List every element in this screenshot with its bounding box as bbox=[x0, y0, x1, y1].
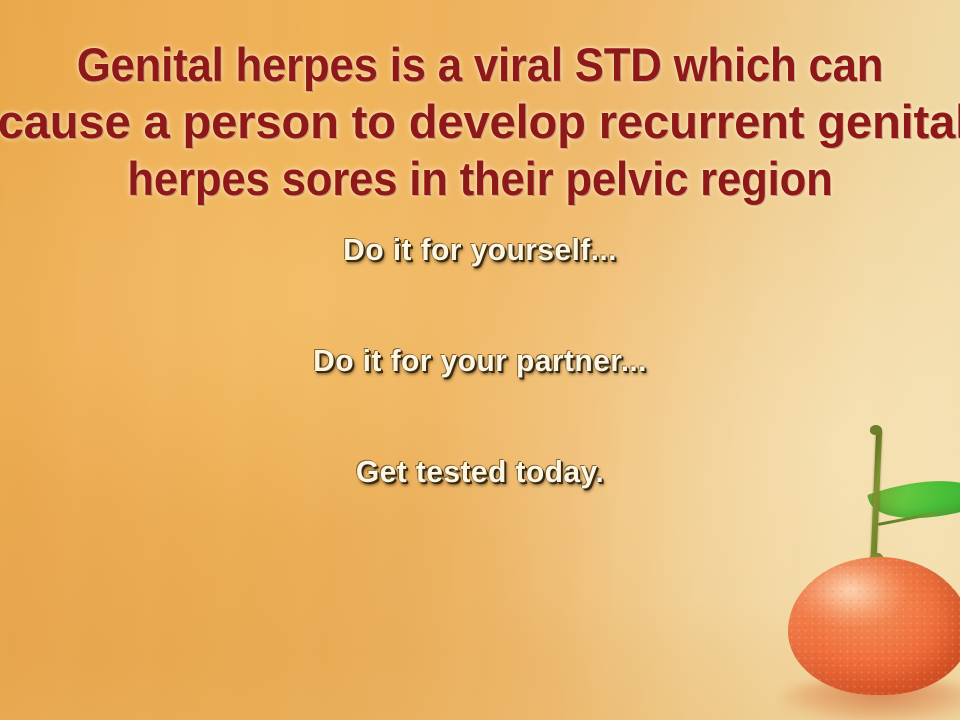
cta-line-yourself: Do it for yourself... bbox=[14, 232, 945, 268]
slide-frame: Genital herpes is a viral STD which can … bbox=[0, 0, 960, 720]
headline-line-1: Genital herpes is a viral STD which can bbox=[34, 36, 927, 93]
fruit-peel-texture bbox=[788, 557, 960, 695]
headline-block: Genital herpes is a viral STD which can … bbox=[0, 36, 960, 207]
call-to-action-block: Do it for yourself... Do it for your par… bbox=[0, 232, 960, 490]
headline-line-3: herpes sores in their pelvic region bbox=[34, 150, 927, 207]
cta-line-partner: Do it for your partner... bbox=[14, 343, 945, 379]
cta-line-get-tested: Get tested today. bbox=[14, 454, 945, 490]
headline-line-2: cause a person to develop recurrent geni… bbox=[0, 93, 960, 150]
fruit-body bbox=[788, 557, 960, 695]
